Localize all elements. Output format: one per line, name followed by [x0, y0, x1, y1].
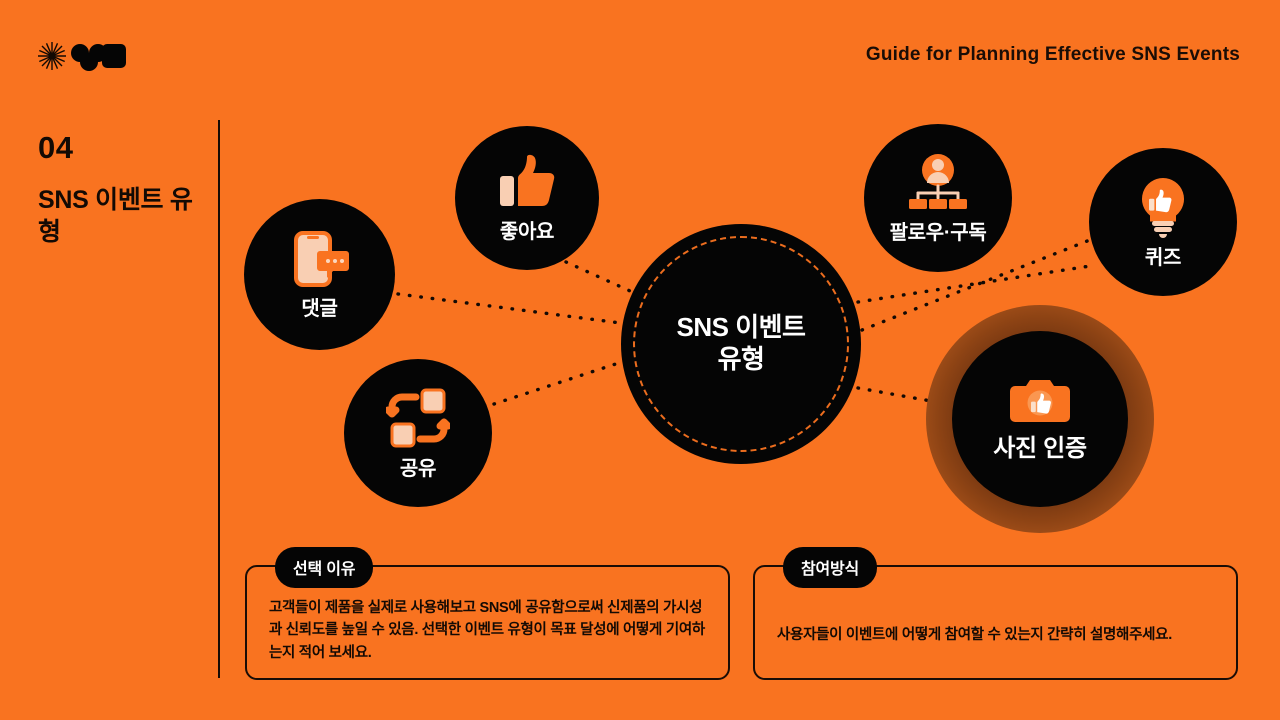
person-network-icon [905, 153, 971, 213]
vertical-divider [218, 120, 220, 678]
node-label: 좋아요 [500, 221, 554, 243]
lightbulb-thumbs-up-icon [1134, 176, 1192, 238]
center-label: SNS 이벤트 유형 [621, 224, 861, 464]
panel-selection-reason: 선택 이유 고객들이 제품을 실제로 사용해보고 SNS에 공유함으로써 신제품… [245, 565, 730, 680]
panel-participation-method: 참여방식 사용자들이 이벤트에 어떻게 참여할 수 있는지 간략히 설명해주세요… [753, 565, 1238, 680]
thumbs-up-icon [496, 154, 558, 212]
panel-body[interactable]: 고객들이 제품을 실제로 사용해보고 SNS에 공유함으로써 신제품의 가시성과… [269, 597, 708, 664]
panel-tag: 참여방식 [783, 547, 877, 588]
node-comment[interactable]: 댓글 [244, 199, 395, 350]
share-repost-icon [386, 387, 450, 449]
node-label: 공유 [400, 458, 436, 480]
node-center-sns-event-types[interactable]: SNS 이벤트 유형 [621, 224, 861, 464]
panel-body[interactable]: 사용자들이 이벤트에 어떻게 참여할 수 있는지 간략히 설명해주세요. [777, 624, 1216, 646]
section-number: 04 [38, 130, 73, 166]
page-title: SNS 이벤트 유형 [38, 184, 208, 248]
node-photo-verification[interactable]: 사진 인증 [952, 331, 1128, 507]
node-label: 사진 인증 [993, 436, 1087, 462]
rounded-square-icon [102, 44, 126, 68]
node-share[interactable]: 공유 [344, 359, 492, 507]
camera-thumbs-up-icon [1010, 376, 1070, 426]
node-follow[interactable]: 팔로우·구독 [864, 124, 1012, 272]
node-photo-highlight-ring: 사진 인증 [926, 305, 1154, 533]
node-like[interactable]: 좋아요 [455, 126, 599, 270]
starburst-center [49, 53, 56, 60]
clover-icon [71, 44, 107, 71]
panel-tag: 선택 이유 [275, 547, 373, 588]
page-header-title: Guide for Planning Effective SNS Events [866, 44, 1240, 66]
node-label: 팔로우·구독 [890, 222, 987, 244]
center-label-line2: 유형 [718, 344, 765, 376]
center-label-line1: SNS 이벤트 [677, 312, 806, 344]
phone-comment-icon [286, 229, 354, 289]
node-label: 댓글 [301, 298, 337, 320]
brand-logo [36, 40, 128, 72]
connector-share [494, 356, 640, 404]
connector-comment [398, 294, 628, 324]
node-quiz[interactable]: 퀴즈 [1089, 148, 1237, 296]
connector-follow [858, 266, 1090, 302]
node-label: 퀴즈 [1145, 247, 1181, 269]
